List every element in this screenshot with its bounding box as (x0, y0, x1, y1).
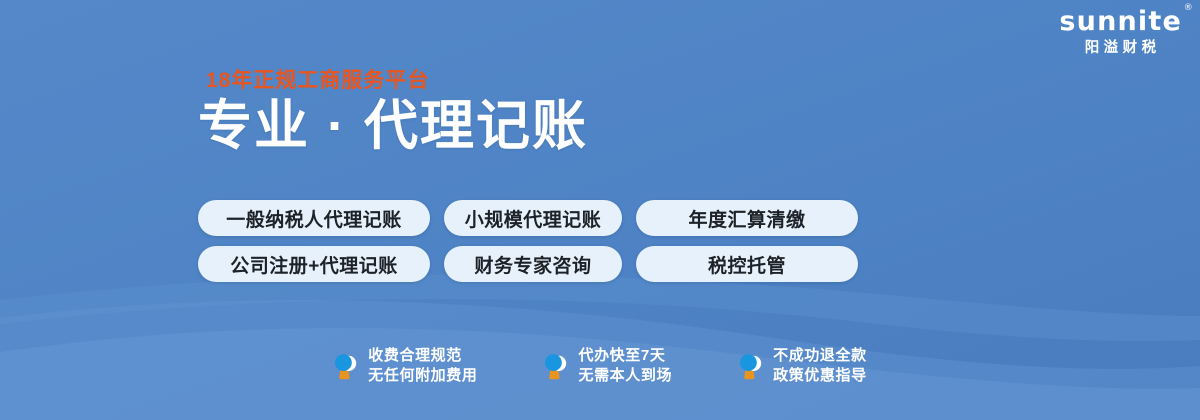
feature-item-refund: 不成功退全款 政策优惠指导 (738, 348, 867, 383)
brand-logo: sunnite® 阳溢财税 (1059, 8, 1182, 56)
headline-block: 18年正规工商服务平台 专业 · 代理记账 (198, 70, 588, 157)
feature-text-speed: 代办快至7天 无需本人到场 (578, 348, 672, 383)
page-title: 专业 · 代理记账 (198, 95, 588, 157)
brand-wordmark-text: sunnite (1059, 6, 1182, 37)
service-pill-annual-settlement[interactable]: 年度汇算清缴 (636, 200, 858, 236)
feature-line-2: 无需本人到场 (578, 368, 672, 383)
service-pill-general-taxpayer[interactable]: 一般纳税人代理记账 (198, 200, 430, 236)
feature-text-pricing: 收费合理规范 无任何附加费用 (368, 348, 477, 383)
service-pill-row: 公司注册+代理记账 财务专家咨询 税控托管 (198, 246, 858, 282)
feature-line-2: 政策优惠指导 (773, 368, 867, 383)
service-pill-tax-control-hosting[interactable]: 税控托管 (636, 246, 858, 282)
brand-wordmark: sunnite® (1059, 8, 1182, 35)
feature-line-1: 收费合理规范 (368, 348, 477, 363)
badge-icon (738, 351, 764, 381)
feature-line-1: 代办快至7天 (578, 348, 672, 363)
service-pill-expert-consulting[interactable]: 财务专家咨询 (444, 246, 622, 282)
badge-icon (543, 351, 569, 381)
feature-line-1: 不成功退全款 (773, 348, 867, 363)
eyebrow-text: 18年正规工商服务平台 (206, 70, 588, 91)
brand-chinese-name: 阳溢财税 (1059, 41, 1182, 56)
feature-item-speed: 代办快至7天 无需本人到场 (543, 348, 672, 383)
service-pill-small-scale[interactable]: 小规模代理记账 (444, 200, 622, 236)
feature-text-refund: 不成功退全款 政策优惠指导 (773, 348, 867, 383)
badge-icon (333, 351, 359, 381)
feature-line-2: 无任何附加费用 (368, 368, 477, 383)
service-pill-company-registration[interactable]: 公司注册+代理记账 (198, 246, 430, 282)
feature-list: 收费合理规范 无任何附加费用 代办快至7天 无需本人到场 不成功退全款 (0, 348, 1200, 383)
service-pill-row: 一般纳税人代理记账 小规模代理记账 年度汇算清缴 (198, 200, 858, 236)
feature-item-pricing: 收费合理规范 无任何附加费用 (333, 348, 477, 383)
service-pill-grid: 一般纳税人代理记账 小规模代理记账 年度汇算清缴 公司注册+代理记账 财务专家咨… (198, 200, 858, 282)
registered-trademark-icon: ® (1184, 4, 1194, 13)
promo-banner: sunnite® 阳溢财税 18年正规工商服务平台 专业 · 代理记账 一般纳税… (0, 0, 1200, 420)
